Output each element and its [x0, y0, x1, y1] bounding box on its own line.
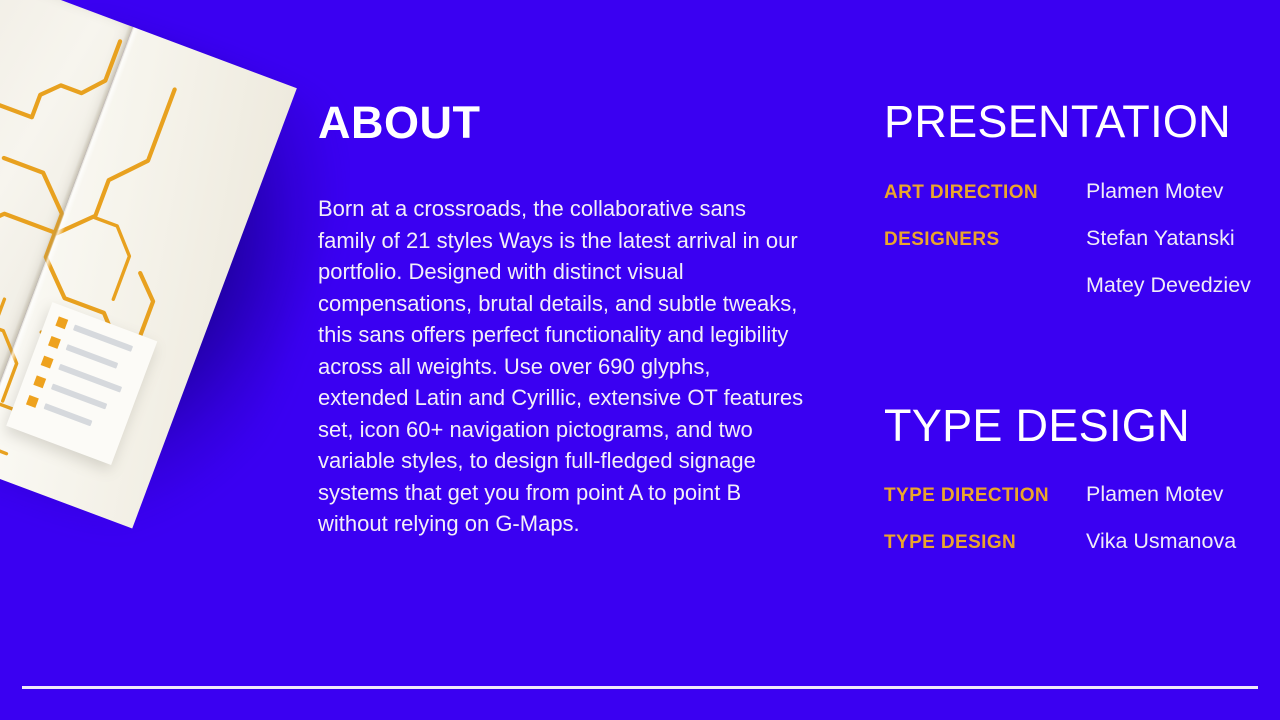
credit-row: TYPE DESIGN Vika Usmanova [884, 529, 1280, 576]
credits-block-type-design: TYPE DESIGN TYPE DIRECTION Plamen Motev … [884, 320, 1280, 577]
credit-label: DESIGNERS [884, 229, 1086, 251]
credit-row: TYPE DIRECTION Plamen Motev [884, 482, 1280, 529]
credit-row-group: TYPE DIRECTION Plamen Motev TYPE DESIGN … [884, 449, 1280, 576]
credit-row: ART DIRECTION Plamen Motev [884, 179, 1280, 226]
legend-label-bar [44, 403, 93, 426]
legend-swatch-icon [26, 395, 39, 408]
footer-divider [22, 686, 1258, 689]
about-body-text: Born at a crossroads, the collaborative … [318, 145, 805, 540]
credit-row: DESIGNERS Stefan Yatanski [884, 226, 1280, 273]
credit-label: TYPE DESIGN [884, 532, 1086, 554]
credit-value: Stefan Yatanski [1086, 226, 1235, 251]
about-column: ABOUT Born at a crossroads, the collabor… [318, 100, 818, 540]
credit-value: Plamen Motev [1086, 179, 1223, 204]
section-heading-presentation: PRESENTATION [884, 98, 1280, 146]
slide-root: ABOUT Born at a crossroads, the collabor… [0, 0, 1280, 720]
folded-map-illustration [0, 0, 350, 600]
credits-block-presentation: PRESENTATION ART DIRECTION Plamen Motev … [884, 98, 1280, 320]
credit-label: TYPE DIRECTION [884, 485, 1086, 507]
credit-row: Matey Devedziev [884, 273, 1280, 320]
credit-row-group: ART DIRECTION Plamen Motev DESIGNERS Ste… [884, 146, 1280, 320]
credit-value: Vika Usmanova [1086, 529, 1236, 554]
page-title: ABOUT [318, 100, 818, 145]
section-heading-type-design: TYPE DESIGN [884, 402, 1280, 450]
credit-label: ART DIRECTION [884, 182, 1086, 204]
credit-value: Plamen Motev [1086, 482, 1223, 507]
credit-value: Matey Devedziev [1086, 273, 1251, 298]
credits-column: PRESENTATION ART DIRECTION Plamen Motev … [884, 98, 1280, 576]
